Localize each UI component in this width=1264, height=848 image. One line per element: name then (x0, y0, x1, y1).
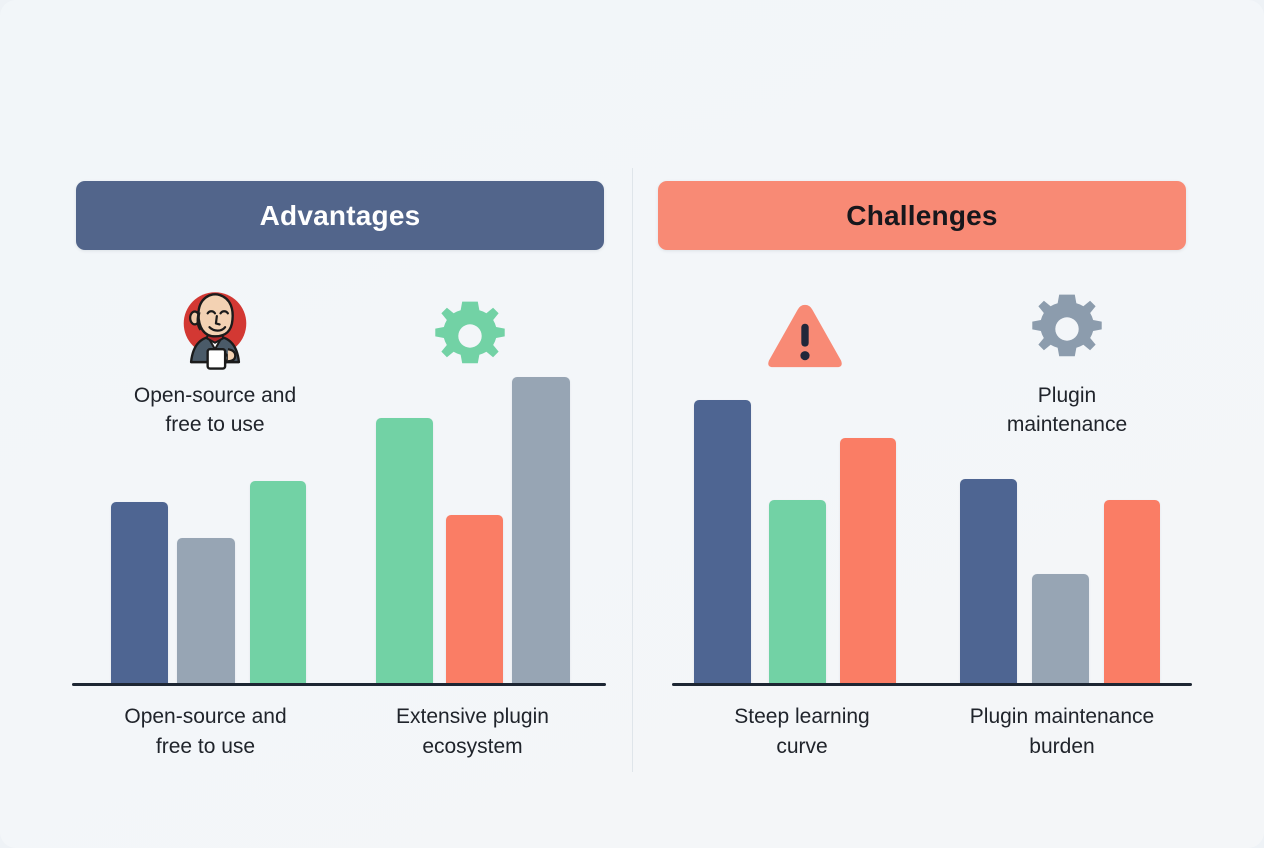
challenges-title: Challenges (846, 200, 997, 232)
bar-right-g1-navy (960, 479, 1017, 683)
advantages-bar-chart (72, 330, 606, 686)
advantages-axis-labels: Open-source and free to use Extensive pl… (72, 702, 606, 762)
challenges-axis-labels: Steep learning curve Plugin maintenance … (672, 702, 1192, 762)
bar-left-g0-navy (111, 502, 168, 683)
panel-advantages: Advantages (0, 0, 632, 848)
bar-right-g1-coral (1104, 500, 1160, 683)
bar-right-g0-coral (840, 438, 896, 683)
bar-left-g1-gray (512, 377, 570, 683)
infographic-canvas: Advantages (0, 0, 1264, 848)
challenges-banner: Challenges (658, 181, 1186, 250)
panel-divider (632, 168, 633, 772)
axis-label-open-source: Open-source and free to use (72, 702, 339, 762)
axis-label-plugin-ecosystem: Extensive plugin ecosystem (339, 702, 606, 762)
challenges-bar-chart (672, 330, 1192, 686)
challenges-axis-line (672, 683, 1192, 686)
bar-right-g0-green (769, 500, 826, 683)
bar-left-g0-green (250, 481, 306, 683)
bar-left-g1-green (376, 418, 433, 683)
advantages-title: Advantages (260, 200, 421, 232)
advantages-axis-line (72, 683, 606, 686)
bar-left-g0-gray (177, 538, 235, 683)
axis-label-plugin-maintenance-burden: Plugin maintenance burden (932, 702, 1192, 762)
advantages-banner: Advantages (76, 181, 604, 250)
bar-right-g0-navy (694, 400, 751, 683)
axis-label-steep-learning-curve: Steep learning curve (672, 702, 932, 762)
bar-right-g1-gray (1032, 574, 1089, 683)
panel-challenges: Challenges Plugin maintenance (632, 0, 1264, 848)
bar-left-g1-coral (446, 515, 503, 683)
